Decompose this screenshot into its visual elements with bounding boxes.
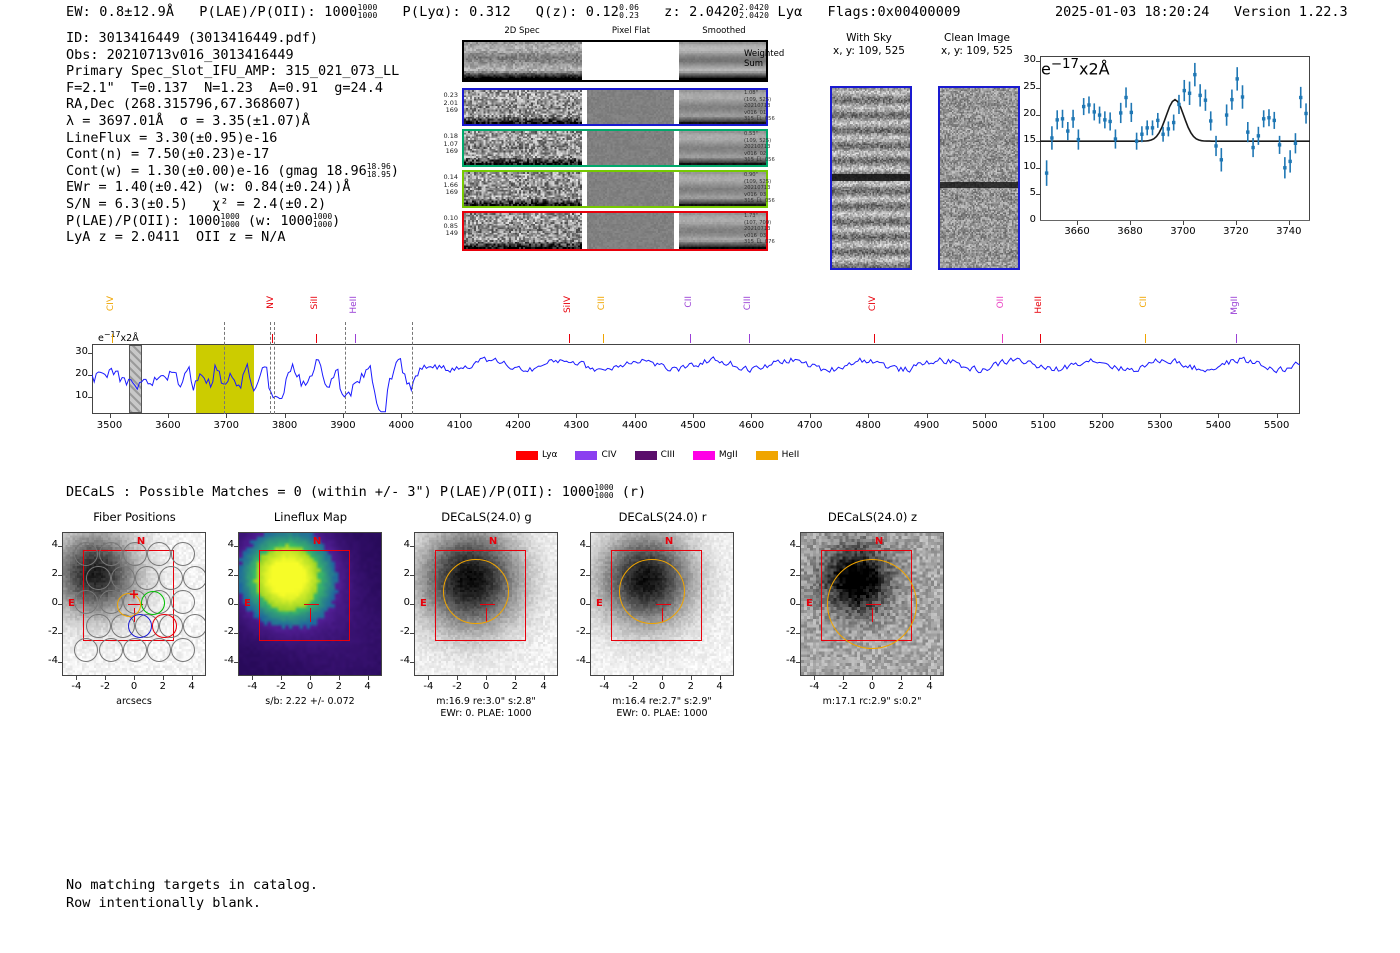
cutout-caption: m:16.4 re:2.7" s:2.9"EWr: 0. PLAE: 1000	[568, 696, 756, 720]
cutout-xtick	[544, 676, 545, 680]
cutout-xtick	[720, 676, 721, 680]
cutout-ytick-label: 2	[212, 568, 234, 579]
cutout-panel-title: DECaLS(24.0) z	[782, 510, 963, 524]
cutout-xtick	[192, 676, 193, 680]
cutout-xtick-label: 4	[916, 681, 944, 692]
aperture-circle	[827, 559, 918, 650]
cutout-ytick	[58, 633, 62, 634]
fiber-circle	[183, 566, 206, 590]
cutout-ytick-label: -4	[36, 655, 58, 666]
cutout-xtick-label: -4	[590, 681, 618, 692]
cutout-ytick	[234, 575, 238, 576]
cutout-ytick-label: -2	[388, 626, 410, 637]
compass-north: N	[137, 536, 145, 547]
cutout-ytick-label: -2	[212, 626, 234, 637]
cutout-ytick-label: -2	[774, 626, 796, 637]
fiber-circle	[171, 590, 195, 614]
cutout-ytick	[58, 662, 62, 663]
cutout-xtick	[691, 676, 692, 680]
cutout-caption: s/b: 2.22 +/- 0.072	[216, 696, 404, 708]
cutout-xtick	[901, 676, 902, 680]
cutout-xtick	[633, 676, 634, 680]
cutout-xtick-label: 0	[120, 681, 148, 692]
cutout-ytick	[234, 604, 238, 605]
cutout-ytick-label: 2	[36, 568, 58, 579]
cutout-ytick-label: 4	[564, 539, 586, 550]
fiber-circle	[159, 566, 183, 590]
cutout-ytick-label: -4	[564, 655, 586, 666]
cutout-ytick-label: -2	[36, 626, 58, 637]
cutout-xtick	[339, 676, 340, 680]
cutout-xtick	[281, 676, 282, 680]
cutout-xtick-label: 2	[325, 681, 353, 692]
decals-panel-row: Fiber Positions+NE-4-4-2-2002244arcsecsL…	[0, 0, 1400, 760]
cutout-ytick-label: 4	[388, 539, 410, 550]
bottom-note-line2: Row intentionally blank.	[66, 894, 318, 912]
fov-rectangle	[259, 550, 350, 641]
fiber-circle	[147, 542, 171, 566]
cutout-ytick	[410, 662, 414, 663]
cutout-caption-line1: s/b: 2.22 +/- 0.072	[216, 696, 404, 708]
cutout-xtick-label: -2	[619, 681, 647, 692]
cutout-ytick	[586, 662, 590, 663]
cutout-ytick-label: -4	[774, 655, 796, 666]
cutout-ytick	[410, 546, 414, 547]
fiber-circle	[86, 566, 110, 590]
compass-east: E	[244, 598, 251, 609]
aperture-circle	[443, 559, 508, 624]
bottom-note: No matching targets in catalog. Row inte…	[66, 876, 318, 912]
cutout-caption-line2: EWr: 0. PLAE: 1000	[392, 708, 580, 720]
cutout-xtick	[428, 676, 429, 680]
cutout-ytick	[586, 546, 590, 547]
cutout-panel-image: +	[62, 532, 206, 676]
cutout-ytick	[586, 604, 590, 605]
cutout-xtick-label: -4	[238, 681, 266, 692]
compass-east: E	[806, 598, 813, 609]
cutout-caption-line1: m:16.9 re:3.0" s:2.8"	[392, 696, 580, 708]
compass-north: N	[489, 536, 497, 547]
target-marker: +	[129, 588, 140, 603]
cutout-caption-line1: arcsecs	[40, 696, 228, 708]
cutout-ytick-label: 0	[564, 597, 586, 608]
cutout-xtick	[662, 676, 663, 680]
cutout-caption-line2: EWr: 0. PLAE: 1000	[568, 708, 756, 720]
cutout-xtick	[604, 676, 605, 680]
fiber-circle	[135, 566, 159, 590]
cutout-ytick	[410, 575, 414, 576]
cutout-caption: m:16.9 re:3.0" s:2.8"EWr: 0. PLAE: 1000	[392, 696, 580, 720]
fiber-circle	[111, 566, 135, 590]
cutout-xtick-label: -2	[829, 681, 857, 692]
cutout-ytick	[586, 633, 590, 634]
cutout-panel-title: DECaLS(24.0) r	[572, 510, 753, 524]
cutout-xtick-label: 0	[858, 681, 886, 692]
cutout-ytick	[796, 575, 800, 576]
cutout-ytick	[410, 604, 414, 605]
cutout-ytick-label: 2	[774, 568, 796, 579]
cutout-xtick-label: 4	[530, 681, 558, 692]
compass-east: E	[68, 598, 75, 609]
cutout-xtick	[814, 676, 815, 680]
cutout-xtick-label: -4	[62, 681, 90, 692]
cutout-ytick	[796, 662, 800, 663]
compass-north: N	[875, 536, 883, 547]
cutout-xtick-label: -4	[800, 681, 828, 692]
cutout-caption-line1: m:16.4 re:2.7" s:2.9"	[568, 696, 756, 708]
cutout-panel-image	[238, 532, 382, 676]
cutout-panel-title: DECaLS(24.0) g	[396, 510, 577, 524]
cutout-ytick	[58, 575, 62, 576]
cutout-caption: m:17.1 rc:2.9" s:0.2"	[778, 696, 966, 708]
fiber-circle	[147, 638, 171, 662]
bottom-note-line1: No matching targets in catalog.	[66, 876, 318, 894]
cutout-panel-image	[590, 532, 734, 676]
cutout-xtick-label: 2	[501, 681, 529, 692]
fiber-circle	[74, 542, 98, 566]
cutout-ytick-label: 0	[388, 597, 410, 608]
cutout-xtick-label: 2	[149, 681, 177, 692]
cutout-panel-image	[414, 532, 558, 676]
cutout-xtick-label: 0	[472, 681, 500, 692]
cutout-ytick-label: 0	[212, 597, 234, 608]
cutout-caption-line1: m:17.1 rc:2.9" s:0.2"	[778, 696, 966, 708]
cutout-ytick	[796, 546, 800, 547]
crosshair-horizontal	[304, 604, 318, 605]
cutout-xtick-label: 0	[296, 681, 324, 692]
cutout-panel-image	[800, 532, 944, 676]
cutout-xtick	[310, 676, 311, 680]
cutout-xtick-label: -4	[414, 681, 442, 692]
cutout-ytick-label: -4	[388, 655, 410, 666]
cutout-xtick	[457, 676, 458, 680]
cutout-ytick	[58, 604, 62, 605]
cutout-xtick	[930, 676, 931, 680]
cutout-panel-title: Lineflux Map	[220, 510, 401, 524]
cutout-ytick-label: -4	[212, 655, 234, 666]
cutout-xtick	[134, 676, 135, 680]
fiber-circle	[86, 614, 110, 638]
cutout-xtick	[872, 676, 873, 680]
crosshair-vertical	[310, 608, 311, 622]
compass-north: N	[313, 536, 321, 547]
fiber-circle	[99, 542, 123, 566]
cutout-ytick-label: 4	[774, 539, 796, 550]
cutout-ytick	[410, 633, 414, 634]
cutout-ytick	[234, 633, 238, 634]
cutout-ytick-label: 4	[36, 539, 58, 550]
cutout-caption: arcsecs	[40, 696, 228, 708]
compass-north: N	[665, 536, 673, 547]
cutout-ytick	[234, 662, 238, 663]
cutout-xtick	[486, 676, 487, 680]
compass-east: E	[596, 598, 603, 609]
cutout-xtick-label: 0	[648, 681, 676, 692]
cutout-ytick-label: 4	[212, 539, 234, 550]
fiber-circle	[99, 638, 123, 662]
cutout-xtick	[515, 676, 516, 680]
cutout-xtick	[163, 676, 164, 680]
cutout-ytick-label: 2	[388, 568, 410, 579]
cutout-ytick	[234, 546, 238, 547]
cutout-ytick-label: -2	[564, 626, 586, 637]
cutout-ytick	[586, 575, 590, 576]
cutout-panel-title: Fiber Positions	[44, 510, 225, 524]
cutout-xtick-label: -2	[91, 681, 119, 692]
cutout-ytick-label: 2	[564, 568, 586, 579]
cutout-ytick-label: 0	[774, 597, 796, 608]
cutout-xtick-label: 2	[887, 681, 915, 692]
cutout-xtick	[252, 676, 253, 680]
fiber-circle	[123, 638, 147, 662]
cutout-xtick	[105, 676, 106, 680]
compass-east: E	[420, 598, 427, 609]
cutout-ytick	[58, 546, 62, 547]
fiber-circle	[183, 614, 206, 638]
cutout-xtick	[368, 676, 369, 680]
cutout-xtick-label: 2	[677, 681, 705, 692]
cutout-xtick-label: 4	[178, 681, 206, 692]
cutout-xtick-label: -2	[267, 681, 295, 692]
cutout-xtick-label: -2	[443, 681, 471, 692]
cutout-ytick	[796, 633, 800, 634]
cutout-ytick-label: 0	[36, 597, 58, 608]
cutout-ytick	[796, 604, 800, 605]
cutout-xtick-label: 4	[706, 681, 734, 692]
cutout-xtick	[76, 676, 77, 680]
cutout-xtick	[843, 676, 844, 680]
fiber-circle	[171, 542, 195, 566]
cutout-xtick-label: 4	[354, 681, 382, 692]
aperture-circle	[619, 559, 684, 624]
fiber-circle-highlighted	[152, 614, 176, 638]
